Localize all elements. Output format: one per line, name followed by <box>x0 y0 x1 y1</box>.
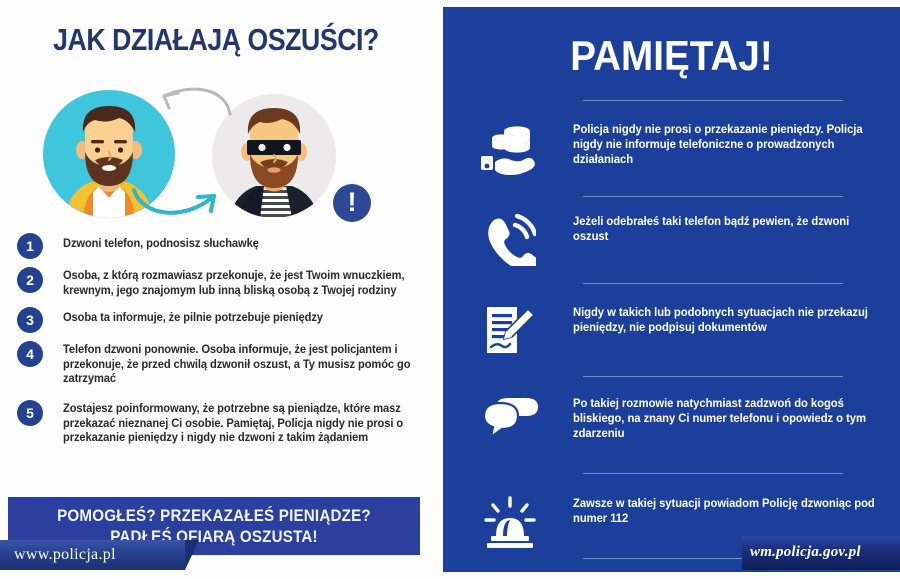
coins-in-hand-icon <box>473 122 547 176</box>
warning-banner-line-1: POMOGŁEŚ? PRZEKAZAŁEŚ PIENIĄDZE? <box>24 507 403 526</box>
speech-bubbles-glyph <box>482 396 538 442</box>
tip-item: Policja nigdy nie prosi o przekazanie pi… <box>443 122 900 176</box>
phone-ringing-glyph <box>484 214 536 266</box>
left-panel-title: JAK DZIAŁAJĄ OSZUŚCI? <box>30 22 402 58</box>
step-text: Osoba ta informuje, że pilnie potrzebuje… <box>63 311 417 326</box>
tip-item: Po takiej rozmowie natychmiast zadzwoń d… <box>443 396 900 442</box>
tip-item: Jeżeli odebrałeś taki telefon bądź pewie… <box>443 214 900 266</box>
tip-text: Zawsze w takiej sytuacji powiadom Policj… <box>573 496 877 526</box>
step-number-badge: 4 <box>17 341 43 367</box>
exclamation-mark: ! <box>333 184 371 222</box>
infographic-canvas: JAK DZIAŁAJĄ OSZUŚCI? <box>0 0 900 579</box>
victim-avatar <box>43 90 175 218</box>
step-number-badge: 3 <box>17 307 43 333</box>
siren-icon <box>473 496 547 548</box>
steps-list: 1 Dzwoni telefon, podnosisz słuchawkę 2 … <box>8 233 432 454</box>
victim-figure-icon <box>43 90 175 218</box>
tip-divider <box>583 100 843 101</box>
right-panel: PAMIĘTAJ! <box>443 7 900 572</box>
scammer-avatar <box>212 94 336 218</box>
step-number-badge: 2 <box>17 267 43 293</box>
exclamation-badge-icon: ! <box>333 184 371 222</box>
document-pen-glyph <box>484 305 536 359</box>
step-item: 2 Osoba, z którą rozmawiasz przekonuje, … <box>8 267 432 298</box>
step-number-badge: 1 <box>17 233 43 259</box>
speech-bubbles-icon <box>473 396 547 442</box>
step-text: Telefon dzwoni ponownie. Osoba informuje… <box>63 343 417 387</box>
step-text: Zostajesz poinformowany, że potrzebne są… <box>63 402 417 446</box>
step-text: Dzwoni telefon, podnosisz słuchawkę <box>63 237 417 252</box>
tip-item: Nigdy w takich lub podobnych sytuacjach … <box>443 305 900 359</box>
watermark-right-text: wm.policja.gov.pl <box>750 544 861 561</box>
tip-divider <box>583 473 843 474</box>
coins-in-hand-glyph <box>481 122 539 176</box>
avatar-illustration-group: ! <box>0 84 432 224</box>
step-number-badge: 5 <box>17 400 43 426</box>
step-item: 3 Osoba ta informuje, że pilnie potrzebu… <box>8 307 432 333</box>
tip-text: Nigdy w takich lub podobnych sytuacjach … <box>573 305 877 335</box>
phone-ringing-icon <box>473 214 547 266</box>
step-text: Osoba, z którą rozmawiasz przekonuje, że… <box>63 269 417 298</box>
watermark-left-tail <box>185 540 199 570</box>
siren-glyph <box>483 496 537 548</box>
step-item: 4 Telefon dzwoni ponownie. Osoba informu… <box>8 341 432 387</box>
tip-text: Policja nigdy nie prosi o przekazanie pi… <box>573 122 877 168</box>
scammer-figure-icon <box>212 94 336 218</box>
watermark-left-text: www.policja.pl <box>14 546 116 564</box>
tip-text: Po takiej rozmowie natychmiast zadzwoń d… <box>573 396 877 442</box>
step-item: 1 Dzwoni telefon, podnosisz słuchawkę <box>8 233 432 259</box>
document-pen-icon <box>473 305 547 359</box>
tip-divider <box>583 196 843 197</box>
step-item: 5 Zostajesz poinformowany, że potrzebne … <box>8 400 432 446</box>
right-panel-title: PAMIĘTAJ! <box>461 32 881 80</box>
tip-text: Jeżeli odebrałeś taki telefon bądź pewie… <box>573 214 877 244</box>
left-panel: JAK DZIAŁAJĄ OSZUŚCI? <box>0 0 432 579</box>
tip-divider <box>583 283 843 284</box>
tip-divider <box>583 376 843 377</box>
